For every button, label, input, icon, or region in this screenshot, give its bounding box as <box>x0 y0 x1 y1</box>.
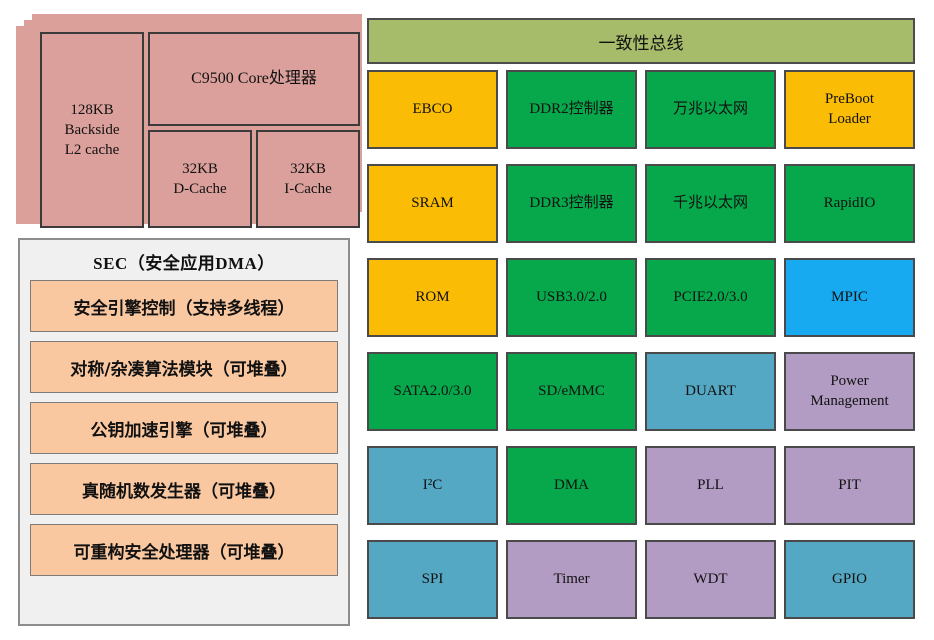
peripheral-block[interactable]: DDR2控制器 <box>506 70 637 149</box>
peripheral-block[interactable]: PCIE2.0/3.0 <box>645 258 776 337</box>
peripheral-grid: EBCODDR2控制器万兆以太网PreBoot LoaderSRAMDDR3控制… <box>367 70 915 619</box>
core-cache-row: 32KB D-Cache 32KB I-Cache <box>148 130 360 228</box>
core-right-column: C9500 Core处理器 32KB D-Cache 32KB I-Cache <box>148 32 360 228</box>
coherency-bus-bar: 一致性总线 <box>367 18 915 64</box>
peripheral-block[interactable]: 千兆以太网 <box>645 164 776 243</box>
peripheral-block[interactable]: DDR3控制器 <box>506 164 637 243</box>
peripheral-block[interactable]: Power Management <box>784 352 915 431</box>
peripheral-block[interactable]: EBCO <box>367 70 498 149</box>
i-cache-block: 32KB I-Cache <box>256 130 360 228</box>
sec-item[interactable]: 可重构安全处理器（可堆叠） <box>30 524 338 576</box>
right-column: 一致性总线 EBCODDR2控制器万兆以太网PreBoot LoaderSRAM… <box>366 0 926 640</box>
d-cache-block: 32KB D-Cache <box>148 130 252 228</box>
peripheral-block[interactable]: RapidIO <box>784 164 915 243</box>
sec-item-list: 安全引擎控制（支持多线程）对称/杂凑算法模块（可堆叠）公钥加速引擎（可堆叠）真随… <box>30 280 338 576</box>
core-front-card: 128KB Backside L2 cache C9500 Core处理器 32… <box>40 32 360 228</box>
peripheral-block[interactable]: MPIC <box>784 258 915 337</box>
core-processor-block: C9500 Core处理器 <box>148 32 360 126</box>
sec-item[interactable]: 安全引擎控制（支持多线程） <box>30 280 338 332</box>
peripheral-block[interactable]: SATA2.0/3.0 <box>367 352 498 431</box>
cpu-core-cluster: 128KB Backside L2 cache C9500 Core处理器 32… <box>16 8 360 236</box>
peripheral-block[interactable]: DUART <box>645 352 776 431</box>
left-column: 128KB Backside L2 cache C9500 Core处理器 32… <box>0 0 360 640</box>
peripheral-block[interactable]: WDT <box>645 540 776 619</box>
peripheral-block[interactable]: DMA <box>506 446 637 525</box>
peripheral-block[interactable]: SRAM <box>367 164 498 243</box>
peripheral-block[interactable]: 万兆以太网 <box>645 70 776 149</box>
sec-item[interactable]: 对称/杂凑算法模块（可堆叠） <box>30 341 338 393</box>
peripheral-block[interactable]: Timer <box>506 540 637 619</box>
l2-cache-block: 128KB Backside L2 cache <box>40 32 144 228</box>
peripheral-block[interactable]: SPI <box>367 540 498 619</box>
peripheral-block[interactable]: PIT <box>784 446 915 525</box>
peripheral-block[interactable]: USB3.0/2.0 <box>506 258 637 337</box>
peripheral-block[interactable]: PreBoot Loader <box>784 70 915 149</box>
peripheral-block[interactable]: I²C <box>367 446 498 525</box>
peripheral-block[interactable]: ROM <box>367 258 498 337</box>
peripheral-block[interactable]: GPIO <box>784 540 915 619</box>
sec-panel-title: SEC（安全应用DMA） <box>30 249 338 274</box>
peripheral-block[interactable]: SD/eMMC <box>506 352 637 431</box>
sec-item[interactable]: 公钥加速引擎（可堆叠） <box>30 402 338 454</box>
peripheral-block[interactable]: PLL <box>645 446 776 525</box>
soc-block-diagram: 128KB Backside L2 cache C9500 Core处理器 32… <box>0 0 934 640</box>
sec-security-panel: SEC（安全应用DMA） 安全引擎控制（支持多线程）对称/杂凑算法模块（可堆叠）… <box>18 238 350 626</box>
sec-item[interactable]: 真随机数发生器（可堆叠） <box>30 463 338 515</box>
